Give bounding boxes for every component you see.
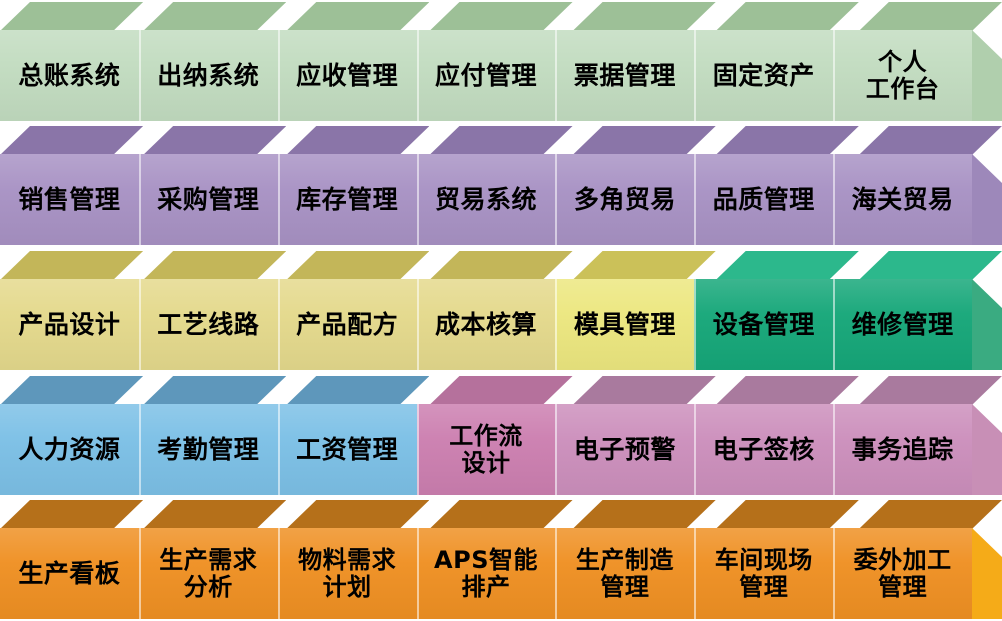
module-box[interactable]: 生产制造 管理 (555, 528, 694, 619)
module-top-face-shape (286, 2, 429, 31)
module-box[interactable]: 贸易系统 (417, 154, 556, 245)
module-top-face (429, 251, 572, 280)
module-box-label: APS智能 排产 (432, 547, 540, 600)
module-box[interactable]: 应收管理 (278, 30, 417, 121)
module-top-face-shape (859, 2, 1002, 31)
module-top-face-shape (859, 376, 1002, 405)
module-top-face (573, 2, 716, 31)
module-top-face (0, 376, 143, 405)
module-architecture-diagram: 总账系统出纳系统应收管理应付管理票据管理固定资产个人 工作台销售管理采购管理库存… (0, 0, 1002, 621)
module-top-face-shape (143, 500, 286, 529)
module-top-face (286, 376, 429, 405)
module-box-label: 考勤管理 (155, 436, 261, 464)
module-box[interactable]: 生产看板 (0, 528, 139, 619)
module-top-face (716, 251, 859, 280)
module-box-label: 工艺线路 (155, 311, 261, 339)
module-box-label: 固定资产 (711, 62, 817, 90)
module-box[interactable]: 海关贸易 (833, 154, 972, 245)
module-top-face-shape (429, 126, 572, 155)
module-top-face (0, 500, 143, 529)
module-row-design-equipment-row: 产品设计工艺线路产品配方成本核算模具管理设备管理维修管理 (0, 251, 1002, 370)
module-box-label: 维修管理 (850, 311, 956, 339)
module-top-face (143, 500, 286, 529)
module-top-face-shape (716, 376, 859, 405)
module-top-face-shape (716, 2, 859, 31)
row-top-face-band (0, 251, 1002, 280)
module-box[interactable]: 设备管理 (694, 279, 833, 370)
module-row-supply-chain-row: 销售管理采购管理库存管理贸易系统多角贸易品质管理海关贸易 (0, 126, 1002, 245)
module-box[interactable]: 产品配方 (278, 279, 417, 370)
module-top-face (429, 500, 572, 529)
module-top-face (429, 376, 572, 405)
module-box[interactable]: 应付管理 (417, 30, 556, 121)
module-top-face-shape (573, 126, 716, 155)
module-top-face-shape (716, 251, 859, 280)
module-box[interactable]: 人力资源 (0, 404, 139, 495)
module-top-face (859, 500, 1002, 529)
module-box-label: 车间现场 管理 (713, 547, 815, 600)
module-box[interactable]: APS智能 排产 (417, 528, 556, 619)
module-top-face (716, 126, 859, 155)
module-top-face (573, 126, 716, 155)
module-top-face-shape (429, 2, 572, 31)
row-side-face (972, 154, 1002, 245)
module-box[interactable]: 出纳系统 (139, 30, 278, 121)
module-top-face (429, 126, 572, 155)
row-front-face-band: 生产看板生产需求 分析物料需求 计划APS智能 排产生产制造 管理车间现场 管理… (0, 528, 972, 619)
module-top-face (716, 376, 859, 405)
module-top-face-shape (286, 376, 429, 405)
module-top-face (859, 376, 1002, 405)
module-box[interactable]: 电子签核 (694, 404, 833, 495)
module-row-production-row: 生产看板生产需求 分析物料需求 计划APS智能 排产生产制造 管理车间现场 管理… (0, 500, 1002, 619)
module-box-label: 事务追踪 (850, 436, 956, 464)
module-box[interactable]: 销售管理 (0, 154, 139, 245)
module-top-face-shape (286, 500, 429, 529)
module-top-face (143, 2, 286, 31)
module-box-label: 生产看板 (16, 560, 122, 588)
row-front-face-band: 销售管理采购管理库存管理贸易系统多角贸易品质管理海关贸易 (0, 154, 972, 245)
module-top-face-shape (716, 500, 859, 529)
row-side-face (972, 279, 1002, 370)
module-top-face-shape (573, 376, 716, 405)
module-box-label: 设备管理 (711, 311, 817, 339)
module-top-face-shape (143, 2, 286, 31)
module-box[interactable]: 库存管理 (278, 154, 417, 245)
row-top-face-band (0, 126, 1002, 155)
module-row-financial-row: 总账系统出纳系统应收管理应付管理票据管理固定资产个人 工作台 (0, 2, 1002, 121)
module-top-face (429, 2, 572, 31)
row-front-face-band: 产品设计工艺线路产品配方成本核算模具管理设备管理维修管理 (0, 279, 972, 370)
module-top-face (573, 251, 716, 280)
row-side-face (972, 404, 1002, 495)
module-top-face-shape (0, 126, 143, 155)
module-box-label: 票据管理 (572, 62, 678, 90)
module-top-face (143, 126, 286, 155)
module-box[interactable]: 个人 工作台 (833, 30, 972, 121)
module-box[interactable]: 工作流 设计 (417, 404, 556, 495)
module-top-face-shape (286, 126, 429, 155)
module-box-label: 贸易系统 (433, 186, 539, 214)
module-top-face (0, 126, 143, 155)
module-top-face-shape (429, 500, 572, 529)
module-box[interactable]: 成本核算 (417, 279, 556, 370)
module-top-face-shape (0, 500, 143, 529)
module-top-face (286, 2, 429, 31)
module-top-face-shape (0, 2, 143, 31)
module-box[interactable]: 多角贸易 (555, 154, 694, 245)
row-top-face-band (0, 500, 1002, 529)
module-box[interactable]: 产品设计 (0, 279, 139, 370)
module-top-face (859, 251, 1002, 280)
row-side-face (972, 30, 1002, 121)
module-top-face-shape (143, 251, 286, 280)
module-box-label: 销售管理 (16, 186, 122, 214)
module-top-face-shape (143, 126, 286, 155)
module-row-hr-workflow-row: 人力资源考勤管理工资管理工作流 设计电子预警电子签核事务追踪 (0, 376, 1002, 495)
row-front-face-band: 人力资源考勤管理工资管理工作流 设计电子预警电子签核事务追踪 (0, 404, 972, 495)
module-box[interactable]: 固定资产 (694, 30, 833, 121)
module-top-face-shape (859, 126, 1002, 155)
module-top-face (716, 2, 859, 31)
module-box-label: 人力资源 (16, 436, 122, 464)
module-top-face (143, 376, 286, 405)
module-box-label: 成本核算 (433, 311, 539, 339)
module-box[interactable]: 采购管理 (139, 154, 278, 245)
row-side-face (972, 528, 1002, 619)
module-box[interactable]: 物料需求 计划 (278, 528, 417, 619)
module-box-label: 出纳系统 (155, 62, 261, 90)
module-top-face-shape (0, 376, 143, 405)
module-box-label: 委外加工 管理 (852, 547, 954, 600)
module-top-face (859, 126, 1002, 155)
module-box[interactable]: 工艺线路 (139, 279, 278, 370)
module-box-label: 应付管理 (433, 62, 539, 90)
module-top-face (286, 500, 429, 529)
module-box-label: 电子预警 (572, 436, 678, 464)
module-box-label: 采购管理 (155, 186, 261, 214)
module-box[interactable]: 工资管理 (278, 404, 417, 495)
module-box[interactable]: 总账系统 (0, 30, 139, 121)
module-box-label: 海关贸易 (850, 186, 956, 214)
module-top-face-shape (716, 126, 859, 155)
module-box-label: 电子签核 (711, 436, 817, 464)
module-top-face-shape (429, 376, 572, 405)
module-box[interactable]: 委外加工 管理 (833, 528, 972, 619)
module-top-face-shape (0, 251, 143, 280)
module-box-label: 库存管理 (294, 186, 400, 214)
row-front-face-band: 总账系统出纳系统应收管理应付管理票据管理固定资产个人 工作台 (0, 30, 972, 121)
row-top-face-band (0, 2, 1002, 31)
module-top-face-shape (573, 251, 716, 280)
module-top-face (716, 500, 859, 529)
module-box-label: 生产制造 管理 (574, 547, 676, 600)
row-top-face-band (0, 376, 1002, 405)
module-box[interactable]: 事务追踪 (833, 404, 972, 495)
module-top-face (286, 126, 429, 155)
module-box-label: 个人 工作台 (864, 49, 942, 102)
module-box-label: 工作流 设计 (447, 423, 525, 476)
module-box-label: 品质管理 (711, 186, 817, 214)
module-top-face-shape (573, 2, 716, 31)
module-top-face (573, 376, 716, 405)
module-top-face-shape (859, 500, 1002, 529)
module-box-label: 工资管理 (294, 436, 400, 464)
module-box[interactable]: 模具管理 (555, 279, 694, 370)
module-top-face (286, 251, 429, 280)
module-box-label: 生产需求 分析 (157, 547, 259, 600)
module-top-face-shape (429, 251, 572, 280)
module-box-label: 物料需求 计划 (296, 547, 398, 600)
module-top-face-shape (286, 251, 429, 280)
module-box[interactable]: 品质管理 (694, 154, 833, 245)
module-box-label: 产品设计 (16, 311, 122, 339)
module-top-face-shape (859, 251, 1002, 280)
module-top-face (0, 251, 143, 280)
module-top-face-shape (143, 376, 286, 405)
module-box-label: 应收管理 (294, 62, 400, 90)
module-box-label: 模具管理 (572, 311, 678, 339)
module-top-face (0, 2, 143, 31)
module-box[interactable]: 车间现场 管理 (694, 528, 833, 619)
module-box-label: 多角贸易 (572, 186, 678, 214)
module-box-label: 总账系统 (16, 62, 122, 90)
module-box[interactable]: 维修管理 (833, 279, 972, 370)
module-box[interactable]: 票据管理 (555, 30, 694, 121)
module-box-label: 产品配方 (294, 311, 400, 339)
module-box[interactable]: 生产需求 分析 (139, 528, 278, 619)
module-top-face (859, 2, 1002, 31)
module-top-face (143, 251, 286, 280)
module-top-face (573, 500, 716, 529)
module-top-face-shape (573, 500, 716, 529)
module-box[interactable]: 电子预警 (555, 404, 694, 495)
module-box[interactable]: 考勤管理 (139, 404, 278, 495)
